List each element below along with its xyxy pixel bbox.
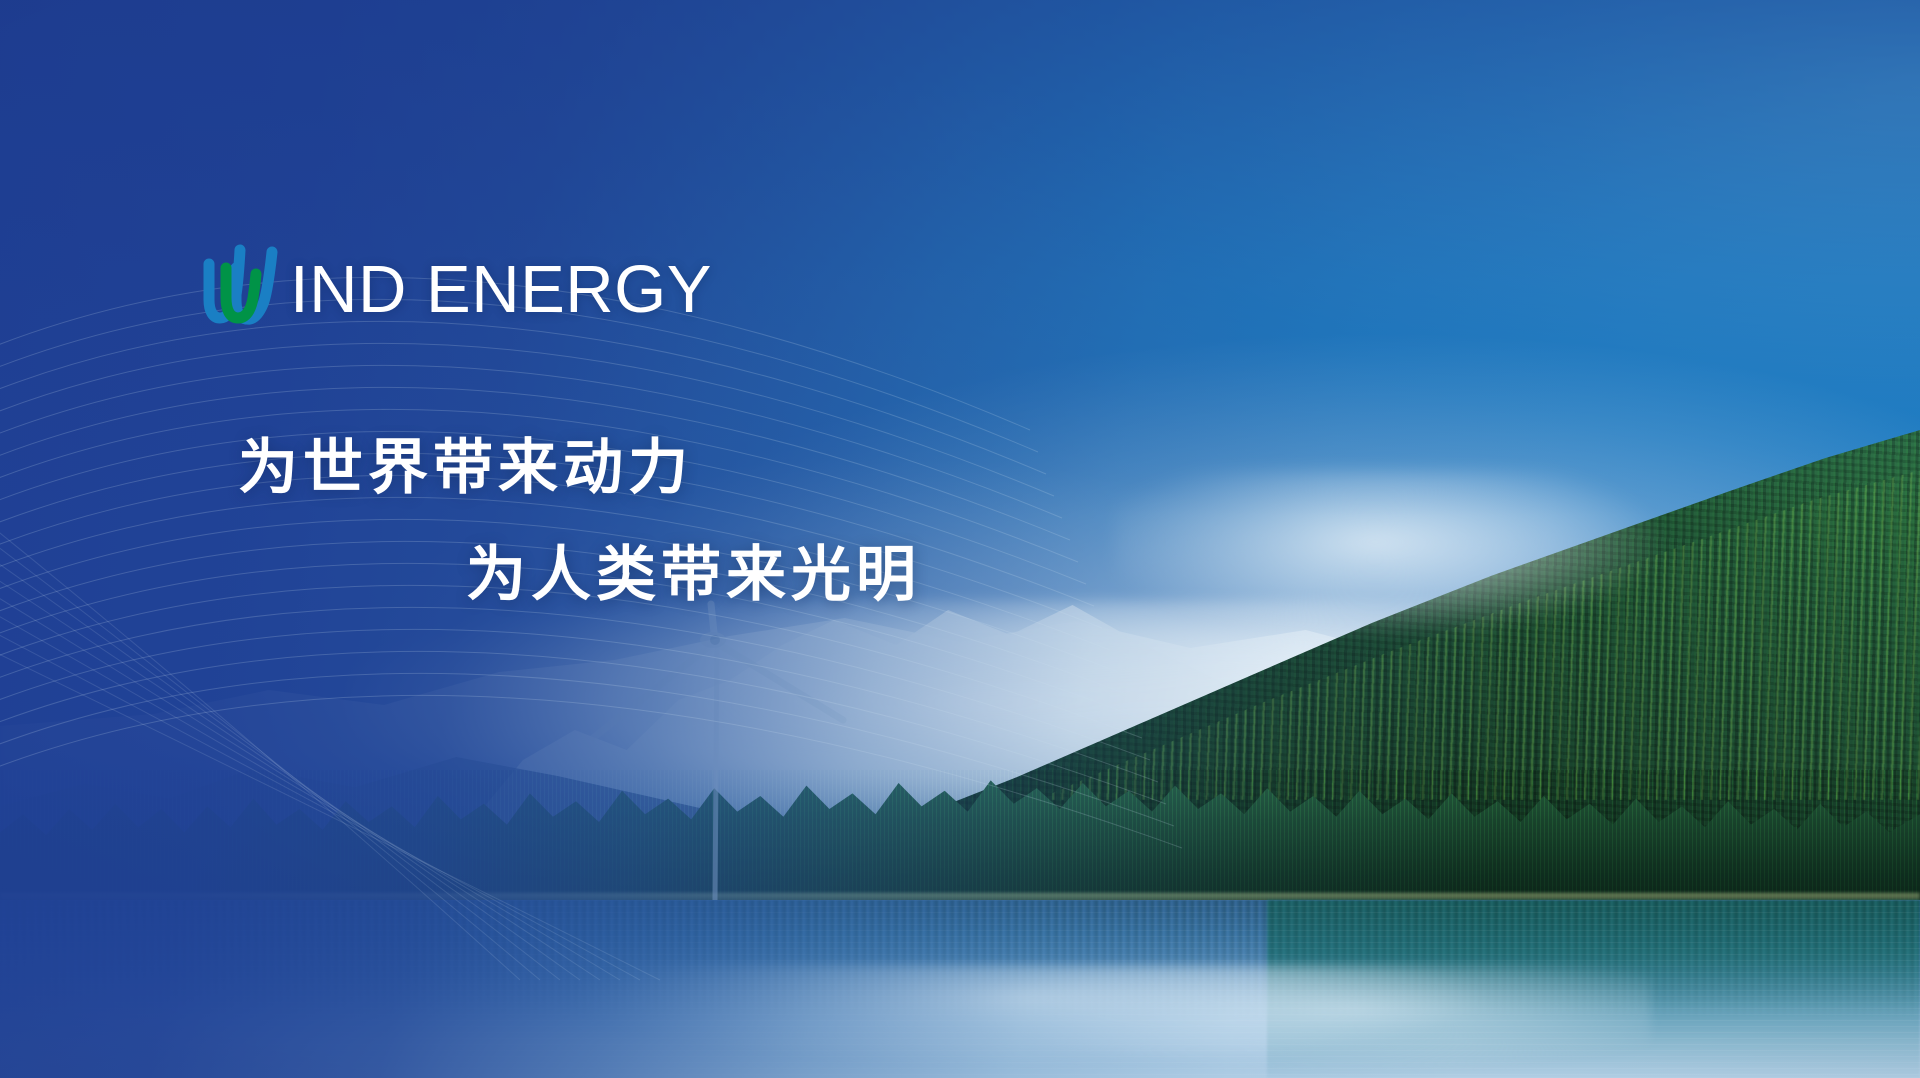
hero-banner: IND ENERGY 为世界带来动力 为人类带来光明: [0, 0, 1920, 1078]
vignette: [0, 0, 1920, 1078]
